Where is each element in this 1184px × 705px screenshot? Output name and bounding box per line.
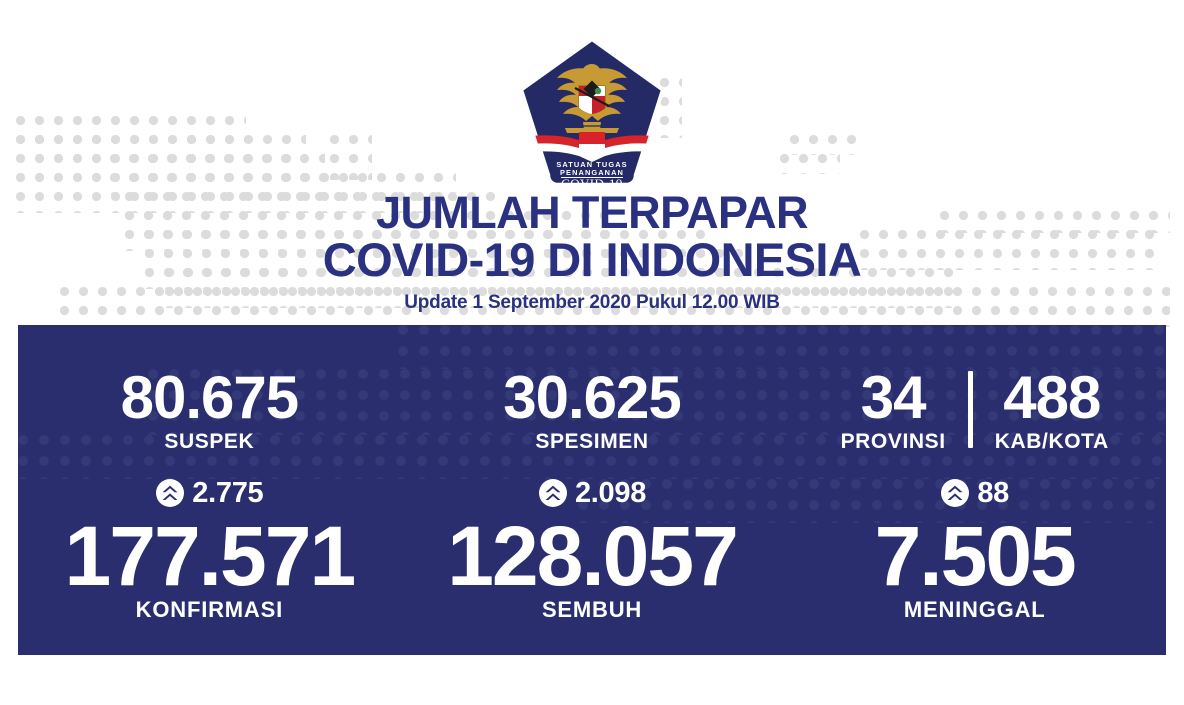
stat-meninggal: 88 7.505 MENINGGAL [783,475,1166,640]
dotmap-band [330,135,372,180]
stat-delta: 2.775 [155,475,263,511]
stat-value: 34 [861,367,926,429]
logo-line3: COVID-19 [561,176,623,191]
page-title-line-1: JUMLAH TERPAPAR [0,190,1184,235]
logo-svg: SATUAN TUGAS PENANGANAN COVID-19 [517,36,667,191]
stat-delta: 2.098 [538,475,646,511]
covid19-statistics-infographic: SATUAN TUGAS PENANGANAN COVID-19 JUMLAH … [0,0,1184,705]
stat-label: PROVINSI [841,430,946,454]
stat-label: KAB/KOTA [995,430,1109,454]
stat-delta-value: 2.775 [192,477,263,510]
panel-dot-band [398,325,1166,369]
stat-value: 488 [1003,367,1100,429]
stat-label: MENINGGAL [904,597,1046,623]
satgas-covid19-logo: SATUAN TUGAS PENANGANAN COVID-19 [517,36,667,191]
stat-label: SPESIMEN [535,430,648,454]
stat-suspek: 80.675 SUSPEK [18,367,401,477]
stat-value: 7.505 [875,513,1075,599]
update-timestamp: Update 1 September 2020 Pukul 12.00 WIB [0,292,1184,314]
stat-value: 128.057 [447,513,737,599]
stat-delta-value: 2.098 [575,477,646,510]
indonesia-flag-ribbon [517,132,667,162]
stat-label: SUSPEK [164,430,254,454]
dotmap-band [790,135,860,155]
dotmap-band [110,154,325,194]
stat-value: 177.571 [65,513,355,599]
stat-region-group: 34 PROVINSI 488 KAB/KOTA [783,367,1166,477]
stat-kabkota: 488 KAB/KOTA [973,367,1131,454]
stat-provinsi: 34 PROVINSI [819,367,968,454]
stat-konfirmasi: 2.775 177.571 KONFIRMASI [18,475,401,640]
double-chevron-up-icon [155,478,185,508]
stat-delta-value: 88 [977,477,1009,510]
region-pair: 34 PROVINSI 488 KAB/KOTA [819,367,1131,454]
statistics-panel: 80.675 SUSPEK 30.625 SPESIMEN 34 PROVINS… [18,325,1166,655]
dotmap-band [780,154,840,174]
stat-value: 30.625 [503,367,681,429]
stat-sembuh: 2.098 128.057 SEMBUH [401,475,784,640]
pancasila-shield [575,81,609,114]
stat-value: 80.675 [121,367,299,429]
page-title-line-2: COVID-19 DI INDONESIA [0,235,1184,285]
header-block: JUMLAH TERPAPAR COVID-19 DI INDONESIA Up… [0,190,1184,314]
stat-spesimen: 30.625 SPESIMEN [401,367,784,477]
stat-label: SEMBUH [542,597,642,623]
secondary-stats-row: 80.675 SUSPEK 30.625 SPESIMEN 34 PROVINS… [18,367,1166,477]
stat-label: KONFIRMASI [136,597,283,623]
stat-delta: 88 [940,475,1009,511]
dotmap-band [16,116,246,156]
double-chevron-up-icon [940,478,970,508]
primary-stats-row: 2.775 177.571 KONFIRMASI 2.098 128.057 S… [18,475,1166,640]
dotmap-band [16,135,306,175]
double-chevron-up-icon [538,478,568,508]
